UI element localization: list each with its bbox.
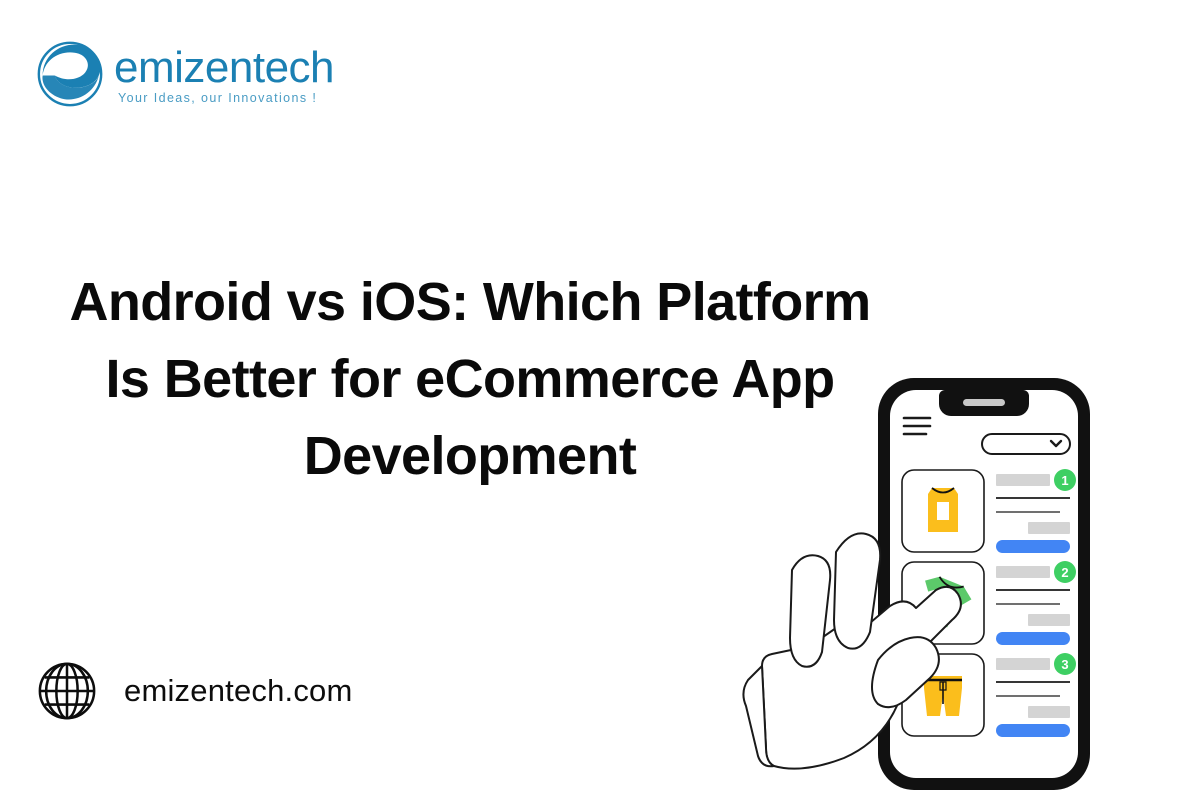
- product-title-placeholder-2: [996, 566, 1050, 578]
- brand-name: emizentech: [114, 47, 334, 89]
- sort-dropdown: [982, 434, 1070, 454]
- buy-button-1: [996, 540, 1070, 553]
- emizentech-swirl-logo-icon: [32, 36, 108, 112]
- brand-logo[interactable]: emizentech Your Ideas, our Innovations !: [32, 36, 334, 112]
- badge-3-label: 3: [1061, 657, 1068, 672]
- product-price-placeholder-2: [1028, 614, 1070, 626]
- tank-top-icon: [928, 488, 958, 532]
- buy-button-3: [996, 724, 1070, 737]
- globe-icon: [36, 660, 98, 722]
- product-title-placeholder-1: [996, 474, 1050, 486]
- phone-speaker: [963, 399, 1005, 406]
- hand-tapping-phone-illustration: 1 2: [740, 370, 1120, 800]
- buy-button-2: [996, 632, 1070, 645]
- product-price-placeholder-3: [1028, 706, 1070, 718]
- page-title-line-1: Android vs iOS: Which Platform: [30, 264, 910, 341]
- slide-canvas: emizentech Your Ideas, our Innovations !…: [0, 0, 1200, 800]
- brand-tagline: Your Ideas, our Innovations !: [118, 91, 334, 105]
- badge-2-label: 2: [1061, 565, 1068, 580]
- website-url[interactable]: emizentech.com: [124, 673, 353, 709]
- product-title-placeholder-3: [996, 658, 1050, 670]
- badge-1-label: 1: [1061, 473, 1068, 488]
- website-footer[interactable]: emizentech.com: [36, 660, 353, 722]
- brand-wordmark: emizentech Your Ideas, our Innovations !: [114, 47, 334, 105]
- product-price-placeholder-1: [1028, 522, 1070, 534]
- phone-mockup: 1 2: [878, 378, 1090, 790]
